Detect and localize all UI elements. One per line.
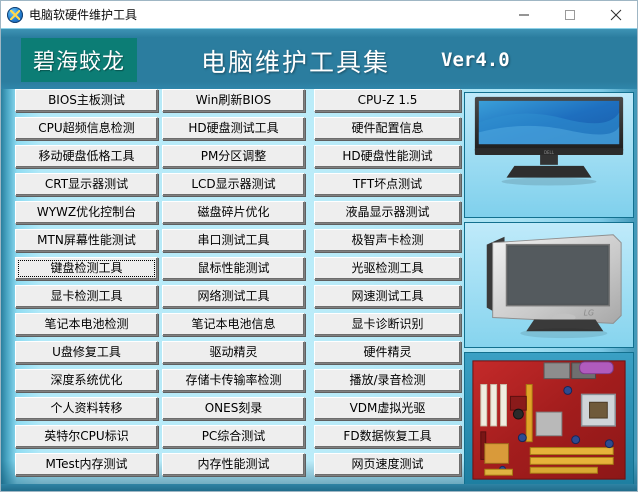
tool-button[interactable]: 网速测试工具 [314,285,461,308]
tool-button[interactable]: 光驱检测工具 [314,257,461,280]
tool-button[interactable]: FD数据恢复工具 [314,425,461,448]
tool-button[interactable]: MTN屏幕性能测试 [15,229,158,252]
close-icon[interactable] [593,1,638,28]
tool-button[interactable]: MTest内存测试 [15,453,158,476]
tool-button[interactable]: HD硬盘测试工具 [162,117,305,140]
tool-button[interactable]: 显卡诊断识别 [314,313,461,336]
tool-button[interactable]: 键盘检测工具 [15,257,158,280]
tool-button[interactable]: CPU-Z 1.5 [314,89,461,112]
minimize-icon[interactable] [501,1,547,28]
tool-button[interactable]: 驱动精灵 [162,341,305,364]
window-controls [501,1,638,28]
tool-button[interactable]: LCD显示器测试 [162,173,305,196]
motherboard-photo [464,352,634,488]
tool-button[interactable]: PC综合测试 [162,425,305,448]
tool-button[interactable]: 磁盘碎片优化 [162,201,305,224]
tool-button[interactable]: 鼠标性能测试 [162,257,305,280]
hardware-image-panel: DELL [464,92,634,488]
tool-button[interactable]: 液晶显示器测试 [314,201,461,224]
crt-monitor-photo: LG [464,222,634,348]
tool-button[interactable]: 极智声卡检测 [314,229,461,252]
tool-button[interactable]: 内存性能测试 [162,453,305,476]
tool-button[interactable]: 深度系统优化 [15,369,158,392]
tool-button[interactable]: 英特尔CPU标识 [15,425,158,448]
tool-button[interactable]: 笔记本电池检测 [15,313,158,336]
bottom-accent-strip [1,484,638,492]
tool-button[interactable]: CPU超频信息检测 [15,117,158,140]
tool-button[interactable]: Win刷新BIOS [162,89,305,112]
main-content: BIOS主板测试CPU超频信息检测移动硬盘低格工具CRT显示器测试WYWZ优化控… [1,89,638,492]
svg-text:DELL: DELL [544,150,555,155]
lcd-monitor-photo: DELL [464,92,634,218]
tool-button[interactable]: U盘修复工具 [15,341,158,364]
banner-version: Ver4.0 [441,49,510,71]
brand-logo-box: 碧海蛟龙 [21,38,137,82]
tool-button[interactable]: CRT显示器测试 [15,173,158,196]
window-title: 电脑软硬件维护工具 [29,6,137,23]
tool-button[interactable]: VDM虚拟光驱 [314,397,461,420]
tool-button[interactable]: WYWZ优化控制台 [15,201,158,224]
title-bar[interactable]: 电脑软硬件维护工具 [1,1,638,28]
tool-button[interactable]: PM分区调整 [162,145,305,168]
tool-column-2: Win刷新BIOSHD硬盘测试工具PM分区调整LCD显示器测试磁盘碎片优化串口测… [162,89,305,481]
app-banner: 碧海蛟龙 电脑维护工具集 Ver4.0 [1,28,638,89]
tool-button-grid: BIOS主板测试CPU超频信息检测移动硬盘低格工具CRT显示器测试WYWZ优化控… [15,89,461,492]
tool-button[interactable]: 硬件精灵 [314,341,461,364]
tool-button[interactable]: 播放/录音检测 [314,369,461,392]
tool-button[interactable]: 存储卡传输率检测 [162,369,305,392]
tool-button[interactable]: 网页速度测试 [314,453,461,476]
app-logo-icon [7,7,23,23]
tool-button[interactable]: 移动硬盘低格工具 [15,145,158,168]
svg-text:LG: LG [584,309,595,318]
app-window: 电脑软硬件维护工具 碧海蛟龙 电脑维护工具集 Ver4.0 BIOS主板测试CP… [0,0,638,492]
tool-button[interactable]: HD硬盘性能测试 [314,145,461,168]
tool-button[interactable]: 笔记本电池信息 [162,313,305,336]
tool-button[interactable]: TFT坏点测试 [314,173,461,196]
tool-button[interactable]: 串口测试工具 [162,229,305,252]
tool-button[interactable]: 网络测试工具 [162,285,305,308]
tool-button[interactable]: BIOS主板测试 [15,89,158,112]
tool-column-1: BIOS主板测试CPU超频信息检测移动硬盘低格工具CRT显示器测试WYWZ优化控… [15,89,158,481]
tool-button[interactable]: 显卡检测工具 [15,285,158,308]
tool-button[interactable]: 个人资料转移 [15,397,158,420]
tool-button[interactable]: 硬件配置信息 [314,117,461,140]
maximize-icon[interactable] [547,1,593,28]
tool-button[interactable]: ONES刻录 [162,397,305,420]
tool-column-3: CPU-Z 1.5硬件配置信息HD硬盘性能测试TFT坏点测试液晶显示器测试极智声… [314,89,461,481]
brand-name: 碧海蛟龙 [33,44,125,76]
banner-title: 电脑维护工具集 [201,43,390,79]
